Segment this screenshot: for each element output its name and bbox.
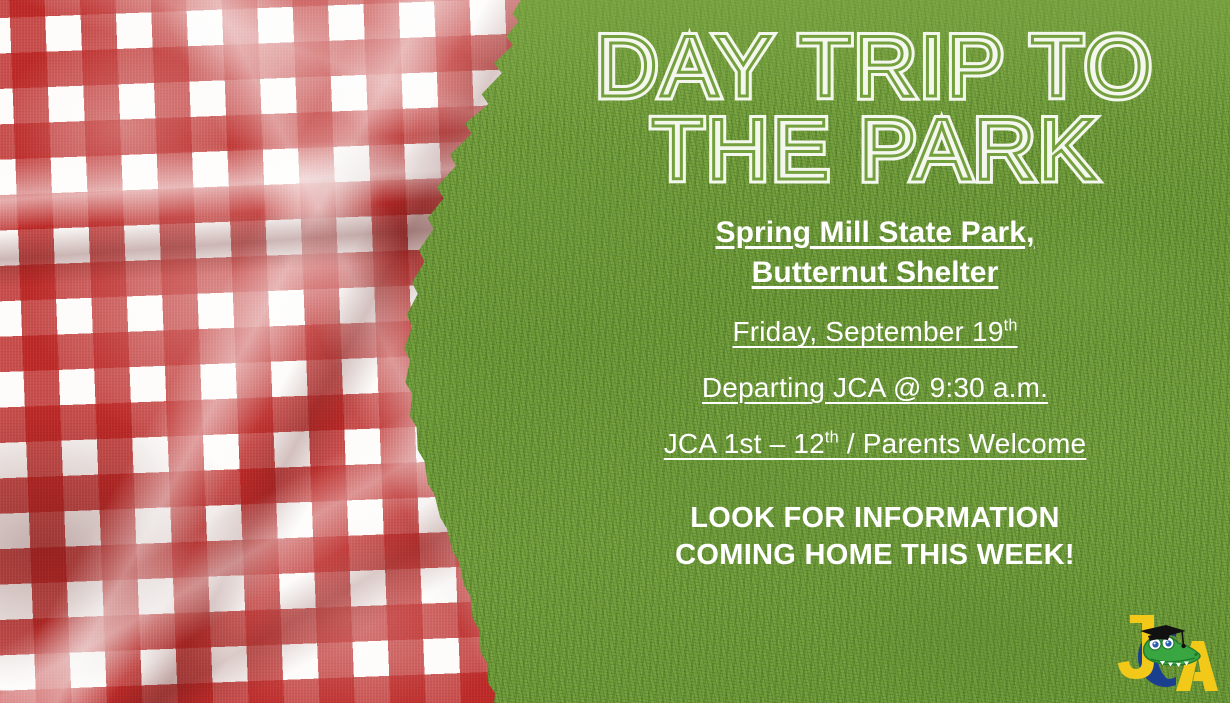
detail-date-text: Friday, September 19th	[732, 316, 1017, 347]
flyer-body: Spring Mill State Park, Butternut Shelte…	[520, 213, 1230, 573]
detail-grades-text: JCA 1st – 12th / Parents Welcome	[664, 428, 1087, 459]
detail-departure-text: Departing JCA @ 9:30 a.m.	[702, 372, 1048, 403]
venue-name: Spring Mill State Park, Butternut Shelte…	[520, 213, 1230, 293]
detail-date-prefix: Friday, September 19	[732, 316, 1003, 347]
callout-line-1: LOOK FOR INFORMATION	[690, 502, 1060, 534]
flyer-title-line-2: THE PARK	[596, 109, 1155, 192]
venue-line-1: Spring Mill State Park,	[715, 216, 1034, 249]
flyer-canvas: DAY TRIP TO THE PARK Spring Mill State P…	[0, 0, 1230, 703]
detail-grades-superscript: th	[825, 428, 839, 446]
detail-grades-prefix: JCA 1st – 12	[664, 428, 825, 459]
detail-grades-suffix: / Parents Welcome	[839, 428, 1086, 459]
jca-logo	[1110, 603, 1218, 695]
venue-line-2: Butternut Shelter	[752, 256, 999, 289]
callout-line-2: COMING HOME THIS WEEK!	[675, 539, 1075, 571]
flyer-title: DAY TRIP TO THE PARK	[596, 26, 1155, 191]
detail-grades: JCA 1st – 12th / Parents Welcome	[520, 427, 1230, 461]
flyer-content-column: DAY TRIP TO THE PARK Spring Mill State P…	[520, 0, 1230, 703]
detail-departure: Departing JCA @ 9:30 a.m.	[520, 371, 1230, 405]
callout-message: LOOK FOR INFORMATION COMING HOME THIS WE…	[520, 500, 1230, 573]
detail-date-superscript: th	[1004, 317, 1018, 335]
flyer-title-line-1: DAY TRIP TO	[596, 26, 1155, 109]
jca-logo-graphic	[1110, 603, 1218, 695]
detail-date: Friday, September 19th	[520, 315, 1230, 349]
